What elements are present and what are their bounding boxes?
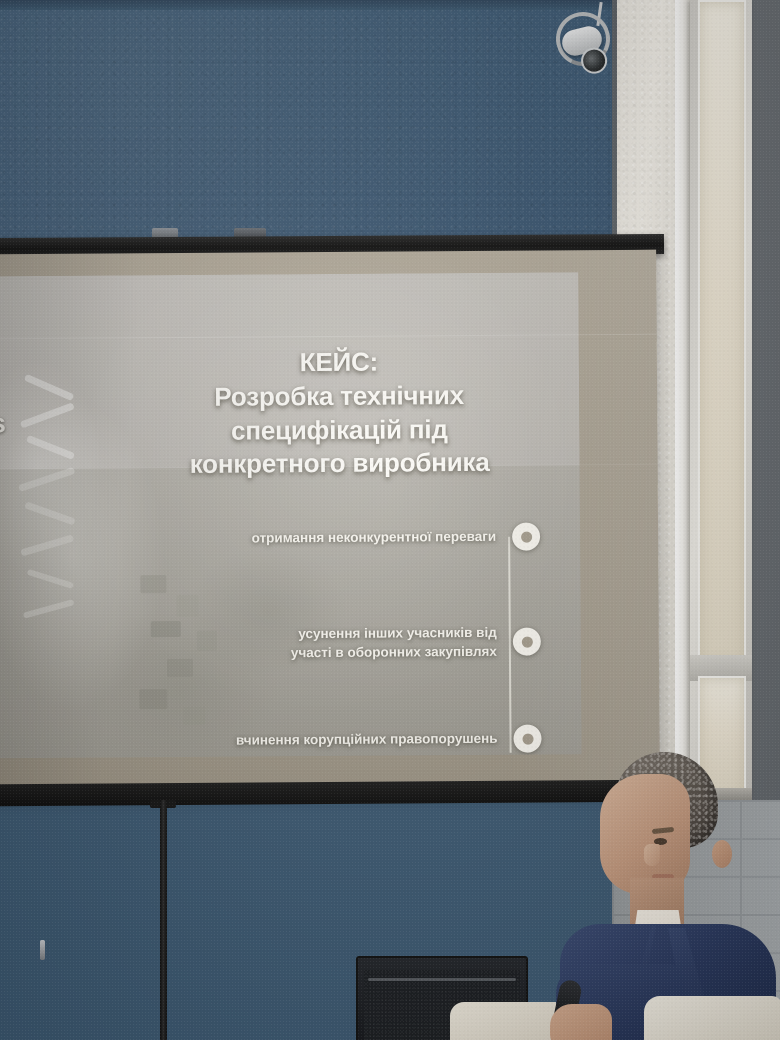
person-nose xyxy=(644,844,660,866)
timeline-marker-icon xyxy=(513,628,541,656)
person-eyebrow xyxy=(652,827,674,834)
slide-title: КЕЙС: Розробка технічних специфікацій пі… xyxy=(139,344,540,482)
timeline-item: отримання неконкурентної переваги xyxy=(110,522,540,553)
left-column-note-2: ts from ent xyxy=(0,594,79,634)
screen-stand-pole xyxy=(160,800,167,1040)
window-pane-upper xyxy=(698,0,746,664)
timeline-item: вчинення корупційних правопорушень xyxy=(111,724,541,755)
presentation-room-photo: of ations e r ntage ts from ent КЕЙС: Ро… xyxy=(0,0,780,1040)
window-frame xyxy=(690,0,752,800)
slide-title-line-2: Розробка технічних xyxy=(139,378,539,415)
speaker-top-trim xyxy=(368,978,516,981)
security-camera-icon xyxy=(548,8,618,78)
armchair-backrest xyxy=(644,996,780,1040)
seated-speaker xyxy=(556,752,780,1040)
projection-screen: of ations e r ntage ts from ent КЕЙС: Ро… xyxy=(0,250,660,793)
person-face xyxy=(600,774,690,894)
left-column-heading: of ations e r xyxy=(0,372,78,509)
projected-slide: of ations e r ntage ts from ent КЕЙС: Ро… xyxy=(0,272,582,758)
slide-title-line-3: специфікацій під xyxy=(139,412,539,449)
window-reveal xyxy=(675,0,691,800)
timeline-item-label: вчинення корупційних правопорушень xyxy=(236,729,498,750)
timeline-marker-icon xyxy=(513,724,541,752)
ceiling-shadow-strip xyxy=(0,0,612,10)
person-ear xyxy=(712,840,732,868)
timeline-item-label: отримання неконкурентної переваги xyxy=(252,527,497,548)
speaker-stand-post xyxy=(40,940,45,960)
timeline-item: усунення інших учасників від участі в об… xyxy=(111,622,541,663)
timeline-item-label: усунення інших учасників від участі в об… xyxy=(291,623,497,663)
person-hand xyxy=(550,1004,612,1040)
left-column-note-1: ntage xyxy=(0,530,78,550)
timeline-marker-icon xyxy=(512,522,540,550)
slide-title-line-1: КЕЙС: xyxy=(139,344,539,381)
slide-left-column: of ations e r ntage ts from ent xyxy=(0,372,79,634)
